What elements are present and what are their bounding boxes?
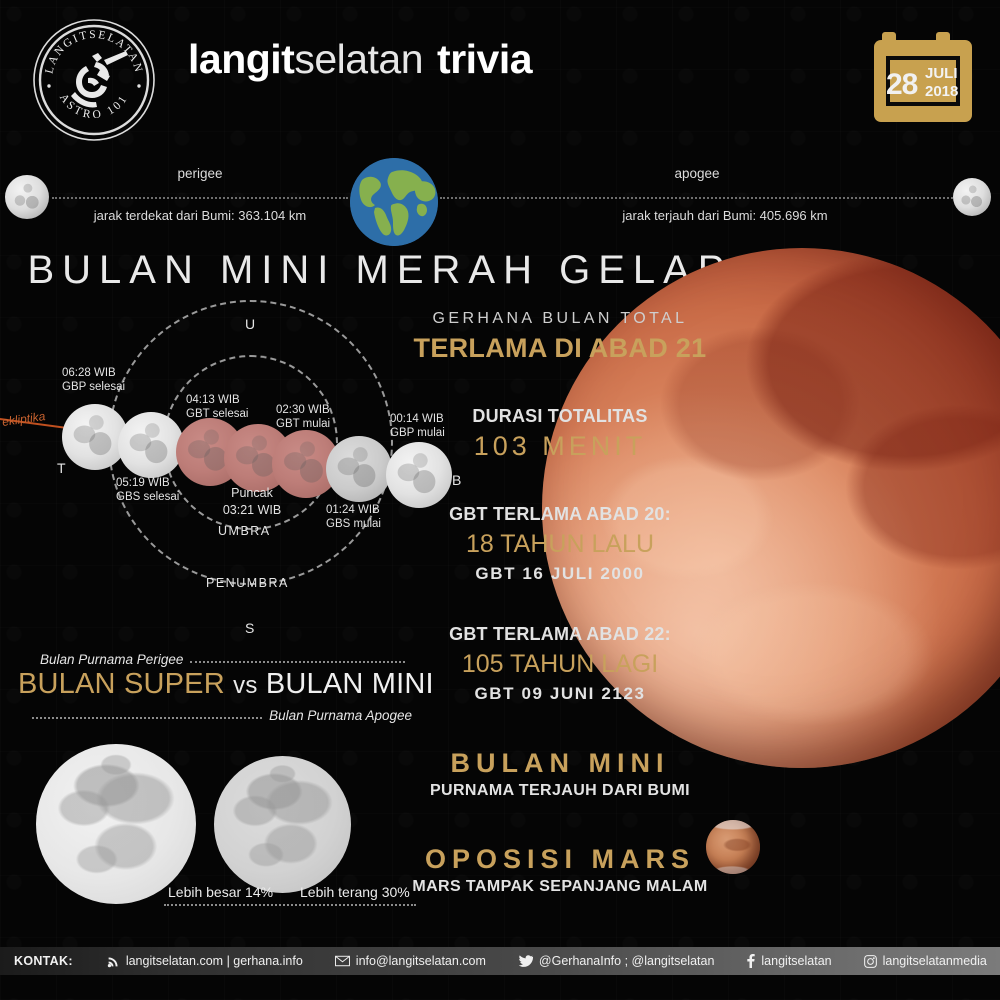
event-time: 04:13 WIB <box>186 393 248 407</box>
event-time: 05:19 WIB <box>116 476 179 490</box>
moon-phase-gbs-selesai <box>118 412 184 478</box>
stats-headline: TERLAMA DI ABAD 21 <box>400 333 720 364</box>
stats-column: GERHANA BULAN TOTAL TERLAMA DI ABAD 21 D… <box>400 310 720 896</box>
perigee-apogee-band: perigee jarak terdekat dari Bumi: 363.10… <box>0 150 1000 260</box>
brand-title: langitselatantrivia <box>188 36 532 83</box>
footer-item-twitter[interactable]: @GerhanaInfo ; @langitselatan <box>502 954 730 968</box>
event-name: GBS mulai <box>326 517 381 531</box>
page-title: BULAN MINI MERAH GELAP <box>0 248 760 293</box>
event-label-gbt-selesai: 04:13 WIB GBT selesai <box>186 393 248 421</box>
brand-trivia: trivia <box>437 36 532 82</box>
minimoon-image <box>214 756 351 893</box>
century22-label: GBT TERLAMA ABAD 22: <box>400 624 720 645</box>
event-time: 02:30 WIB <box>276 403 330 417</box>
pole-south-label: S <box>245 620 254 636</box>
event-label-gbs-selesai: 05:19 WIB GBS selesai <box>116 476 179 504</box>
super-vs-mini-section: Bulan Purnama Perigee BULAN SUPER vs BUL… <box>18 652 420 924</box>
title-bulan-mini: BULAN MINI <box>266 668 434 700</box>
mars-title: OPOSISI MARS <box>400 844 720 875</box>
ecliptic-label: ekliptika <box>1 409 46 429</box>
event-label-gbs-mulai: 01:24 WIB GBS mulai <box>326 503 381 531</box>
metric-brightness: Lebih terang 30% <box>300 884 410 900</box>
comparison-dash <box>164 904 416 906</box>
footer-item-label: @GerhanaInfo ; @langitselatan <box>539 954 714 968</box>
svg-text:LANGITSELATAN: LANGITSELATAN <box>43 29 144 75</box>
footer-item-label: langitselatanmedia <box>883 954 987 968</box>
brand-light: selatan <box>294 36 423 82</box>
brand-bold: langit <box>188 36 294 82</box>
caption-perigee: Bulan Purnama Perigee <box>40 652 183 667</box>
event-label-gbp-selesai: 06:28 WIB GBP selesai <box>62 366 125 394</box>
mini-moon-subtitle: PURNAMA TERJAUH DARI BUMI <box>400 782 720 800</box>
footer-item-email[interactable]: info@langitselatan.com <box>319 954 502 968</box>
langitselatan-logo-icon: LANGITSELATAN ASTRO 101 <box>30 16 158 144</box>
kontak-label: KONTAK: <box>0 954 91 968</box>
date-day: 28 <box>886 68 917 102</box>
perigee-moon-icon <box>5 175 49 219</box>
peak-label-group: Puncak 03:21 WIB <box>212 485 292 519</box>
century20-date: GBT 16 JULI 2000 <box>400 564 720 584</box>
century22-value: 105 TAHUN LAGI <box>400 650 720 679</box>
mini-moon-title: BULAN MINI <box>400 748 720 779</box>
direction-west-label: T <box>57 460 66 476</box>
footer-item-label: info@langitselatan.com <box>356 954 486 968</box>
moon-maria-texture <box>214 756 351 893</box>
super-vs-mini-title: BULAN SUPER vs BULAN MINI <box>18 668 420 701</box>
perigee-orbit-line <box>52 197 348 199</box>
apogee-moon-icon <box>953 178 991 216</box>
apogee-label: apogee <box>632 166 762 181</box>
date-badge: 28 JULI 2018 <box>870 22 978 134</box>
instagram-icon <box>864 955 877 968</box>
title-bulan-super: BULAN SUPER <box>18 668 225 700</box>
contact-footer: KONTAK: langitselatan.com | gerhana.info… <box>0 947 1000 975</box>
duration-label: DURASI TOTALITAS <box>400 406 720 427</box>
footer-item-website[interactable]: langitselatan.com | gerhana.info <box>91 954 319 968</box>
perigee-distance: jarak terdekat dari Bumi: 363.104 km <box>60 208 340 223</box>
event-name: GBT mulai <box>276 417 330 431</box>
footer-item-label: langitselatan.com | gerhana.info <box>126 954 303 968</box>
earth-icon <box>350 158 438 246</box>
penumbra-label: PENUMBRA <box>206 576 289 590</box>
event-name: GBS selesai <box>116 490 179 504</box>
footer-item-label: langitselatan <box>761 954 831 968</box>
century20-label: GBT TERLAMA ABAD 20: <box>400 504 720 525</box>
event-name: GBT selesai <box>186 407 248 421</box>
apogee-distance: jarak terjauh dari Bumi: 405.696 km <box>580 208 870 223</box>
supermoon-image <box>36 744 196 904</box>
moon-maria-texture <box>36 744 196 904</box>
twitter-icon <box>518 955 533 968</box>
umbra-label: UMBRA <box>218 524 271 538</box>
event-time: 01:24 WIB <box>326 503 381 517</box>
caption-bottom-dash <box>32 717 262 719</box>
event-time: 06:28 WIB <box>62 366 125 380</box>
event-name: GBP selesai <box>62 380 125 394</box>
perigee-label: perigee <box>110 166 290 181</box>
footer-item-instagram[interactable]: langitselatanmedia <box>848 954 1000 968</box>
date-year: 2018 <box>925 83 958 100</box>
century20-value: 18 TAHUN LALU <box>400 530 720 559</box>
apogee-orbit-line <box>440 197 956 199</box>
date-month: JULI <box>925 65 958 82</box>
caption-top-dash <box>190 661 405 663</box>
mars-planet-image <box>706 820 760 874</box>
pole-north-label: U <box>245 316 255 332</box>
facebook-icon <box>746 954 755 968</box>
peak-label: Puncak <box>212 485 292 502</box>
stats-kicker: GERHANA BULAN TOTAL <box>400 310 720 328</box>
rss-icon <box>107 955 120 968</box>
peak-time: 03:21 WIB <box>212 502 292 519</box>
century22-date: GBT 09 JUNI 2123 <box>400 684 720 704</box>
title-vs: vs <box>233 672 257 699</box>
event-label-gbt-mulai: 02:30 WIB GBT mulai <box>276 403 330 431</box>
mars-subtitle: MARS TAMPAK SEPANJANG MALAM <box>400 878 720 896</box>
mail-icon <box>335 955 350 967</box>
footer-item-facebook[interactable]: langitselatan <box>730 954 847 968</box>
metric-size: Lebih besar 14% <box>168 884 273 900</box>
moon-phase-gbs-mulai <box>326 436 392 502</box>
caption-apogee: Bulan Purnama Apogee <box>269 708 412 723</box>
duration-value: 103 MENIT <box>400 431 720 462</box>
